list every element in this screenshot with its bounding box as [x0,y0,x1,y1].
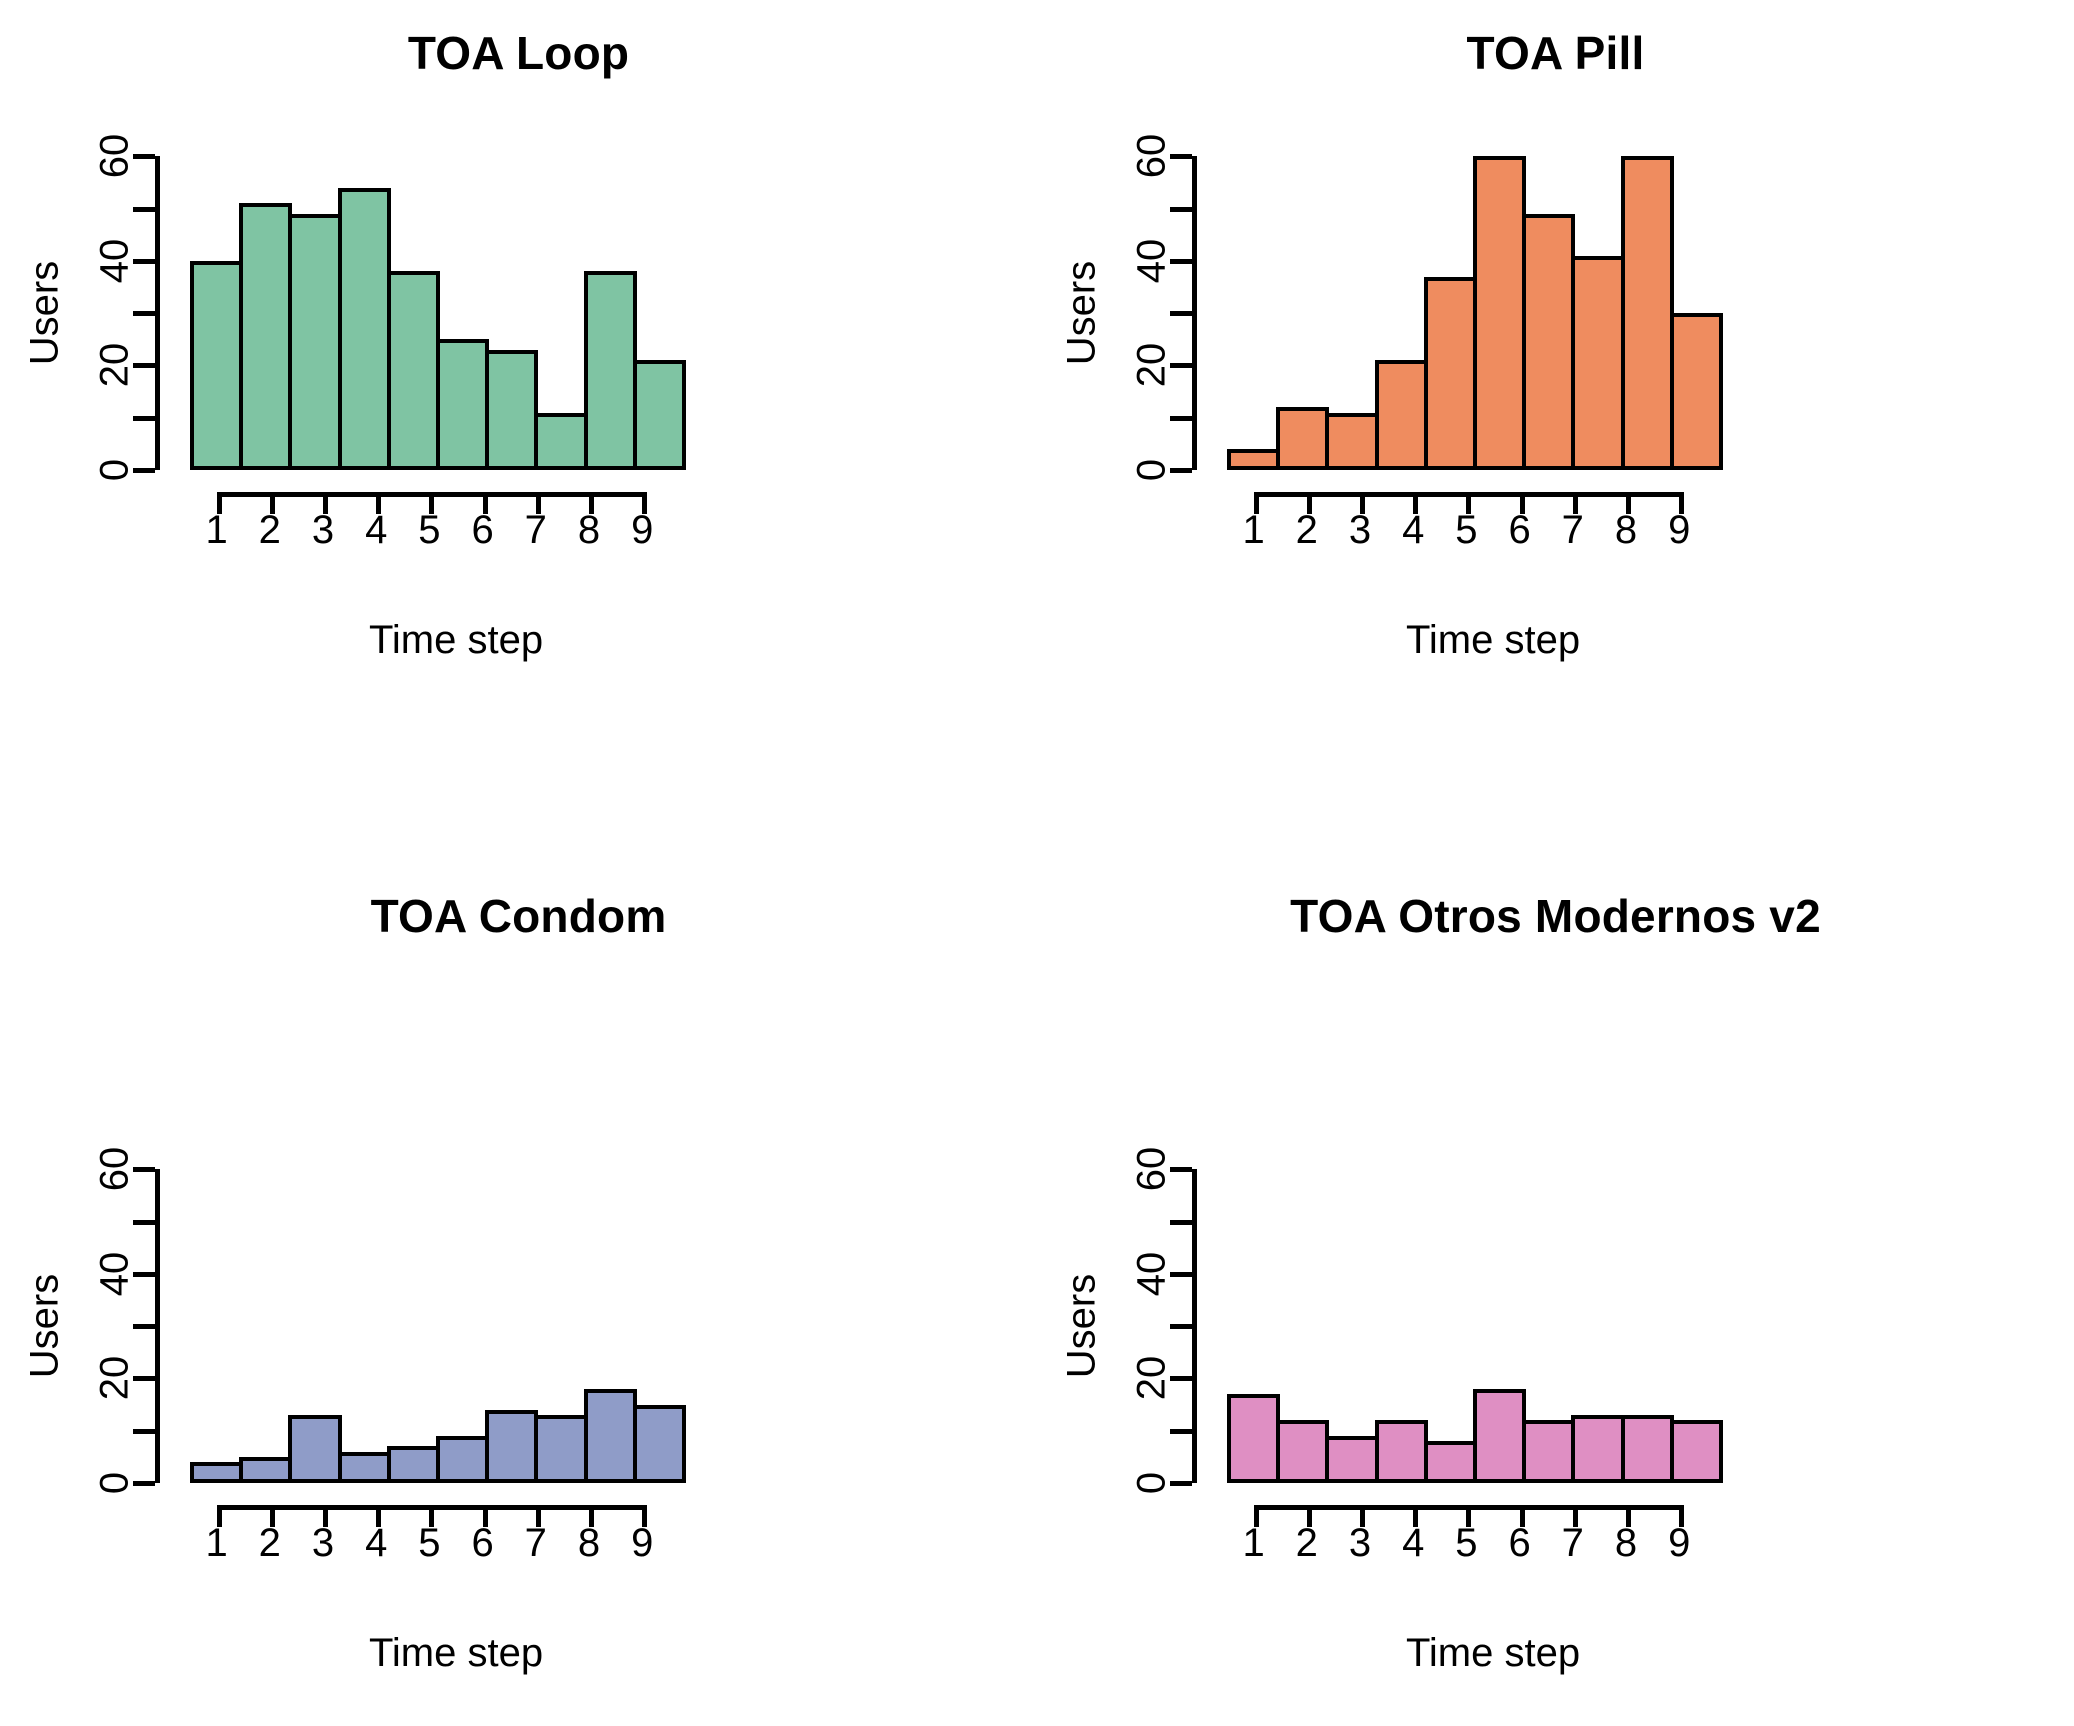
y-tick-label: 60 [93,1147,138,1192]
x-tick-label: 7 [511,1521,561,1566]
panel-toa-otros-modernos-v2: TOA Otros Modernos v2 0204060Users123456… [1037,863,2074,1726]
bar [1375,360,1428,470]
x-axis-title: Time step [1147,1631,1839,1676]
bar [1670,1420,1723,1483]
bar-series [1227,1159,1759,1483]
bar [1473,1389,1526,1483]
bar [1424,277,1477,470]
bar [1227,449,1280,470]
bar [1670,313,1723,470]
y-tick-label: 40 [1130,239,1175,284]
y-tick-mark [1170,1220,1192,1225]
x-tick-label: 9 [1654,1521,1704,1566]
x-tick-label: 3 [298,1521,348,1566]
y-axis-title: Users [1060,1274,1105,1378]
y-tick-mark [133,311,155,316]
y-axis-line [155,1169,160,1483]
bar [1325,1436,1378,1483]
bar [584,1389,637,1483]
bar [1375,1420,1428,1483]
panel-toa-condom: TOA Condom 0204060Users123456789Time ste… [0,863,1037,1726]
bar [1473,156,1526,470]
y-tick-label: 0 [93,459,138,481]
y-tick-label: 40 [1130,1252,1175,1297]
x-tick-label: 6 [458,508,508,553]
bar [1325,413,1378,470]
bar [633,1405,686,1483]
panel-title: TOA Condom [0,889,1037,943]
y-tick-mark [133,416,155,421]
y-tick-label: 20 [93,343,138,388]
y-tick-label: 40 [93,239,138,284]
x-tick-label: 4 [1388,1521,1438,1566]
y-tick-mark [1170,311,1192,316]
bar-series [190,1159,722,1483]
y-tick-mark [1170,1324,1192,1329]
y-tick-label: 60 [93,134,138,179]
bar [436,1436,489,1483]
bar [239,1457,292,1483]
x-tick-label: 8 [564,508,614,553]
x-tick-label: 3 [298,508,348,553]
bar [239,203,292,470]
y-tick-label: 60 [1130,1147,1175,1192]
x-tick-label: 5 [404,508,454,553]
bar-series [190,146,722,470]
x-tick-label: 6 [1495,508,1545,553]
y-tick-mark [133,1220,155,1225]
x-axis-title: Time step [110,1631,802,1676]
bar [338,1452,391,1483]
y-axis-title: Users [1060,261,1105,365]
y-tick-mark [133,207,155,212]
bar [1571,256,1624,470]
bar [387,1446,440,1483]
x-tick-label: 2 [245,508,295,553]
bar [1522,1420,1575,1483]
y-axis-line [155,156,160,470]
x-tick-label: 1 [192,1521,242,1566]
x-tick-label: 5 [1441,1521,1491,1566]
y-tick-label: 60 [1130,134,1175,179]
bar-series [1227,146,1759,470]
bar [485,350,538,470]
figure-grid: TOA Loop 0204060Users123456789Time step … [0,0,2074,1726]
y-axis-line [1192,1169,1197,1483]
bar [387,271,440,470]
x-tick-label: 2 [1282,1521,1332,1566]
bar [338,188,391,470]
y-axis-line [1192,156,1197,470]
y-axis-title: Users [23,261,68,365]
bar [1621,156,1674,470]
x-tick-label: 2 [245,1521,295,1566]
bar [190,261,243,470]
panel-title: TOA Otros Modernos v2 [1037,889,2074,943]
y-axis-title: Users [23,1274,68,1378]
bar [534,1415,587,1483]
panel-toa-loop: TOA Loop 0204060Users123456789Time step [0,0,1037,863]
x-tick-label: 7 [511,508,561,553]
bar [1227,1394,1280,1483]
bar [288,1415,341,1483]
x-tick-label: 8 [564,1521,614,1566]
x-tick-label: 2 [1282,508,1332,553]
x-tick-label: 1 [1229,508,1279,553]
bar [1522,214,1575,470]
y-tick-label: 40 [93,1252,138,1297]
x-tick-label: 6 [1495,1521,1545,1566]
bar [1571,1415,1624,1483]
x-tick-label: 3 [1335,1521,1385,1566]
y-tick-label: 0 [1130,459,1175,481]
x-axis-title: Time step [1147,618,1839,663]
x-tick-label: 1 [1229,1521,1279,1566]
y-tick-mark [133,1324,155,1329]
bar [288,214,341,470]
bar [1276,1420,1329,1483]
bar [1621,1415,1674,1483]
x-tick-label: 7 [1548,1521,1598,1566]
x-tick-label: 8 [1601,508,1651,553]
x-tick-label: 7 [1548,508,1598,553]
x-tick-label: 5 [404,1521,454,1566]
bar [534,413,587,470]
x-tick-label: 9 [617,508,667,553]
x-tick-label: 6 [458,1521,508,1566]
x-tick-label: 8 [1601,1521,1651,1566]
y-tick-label: 20 [1130,343,1175,388]
x-tick-label: 4 [351,508,401,553]
bar [190,1462,243,1483]
x-axis-title: Time step [110,618,802,663]
y-tick-mark [1170,1429,1192,1434]
panel-title: TOA Pill [1037,26,2074,80]
y-tick-label: 20 [93,1356,138,1401]
x-tick-label: 5 [1441,508,1491,553]
panel-toa-pill: TOA Pill 0204060Users123456789Time step [1037,0,2074,863]
bar [584,271,637,470]
bar [436,339,489,470]
y-tick-label: 0 [93,1472,138,1494]
bar [1424,1441,1477,1483]
y-tick-label: 0 [1130,1472,1175,1494]
x-tick-label: 9 [617,1521,667,1566]
y-tick-mark [133,1429,155,1434]
x-tick-label: 4 [1388,508,1438,553]
panel-title: TOA Loop [0,26,1037,80]
x-tick-label: 1 [192,508,242,553]
y-tick-mark [1170,207,1192,212]
x-tick-label: 3 [1335,508,1385,553]
bar [485,1410,538,1483]
x-tick-label: 4 [351,1521,401,1566]
bar [1276,407,1329,470]
y-tick-label: 20 [1130,1356,1175,1401]
y-tick-mark [1170,416,1192,421]
bar [633,360,686,470]
x-tick-label: 9 [1654,508,1704,553]
